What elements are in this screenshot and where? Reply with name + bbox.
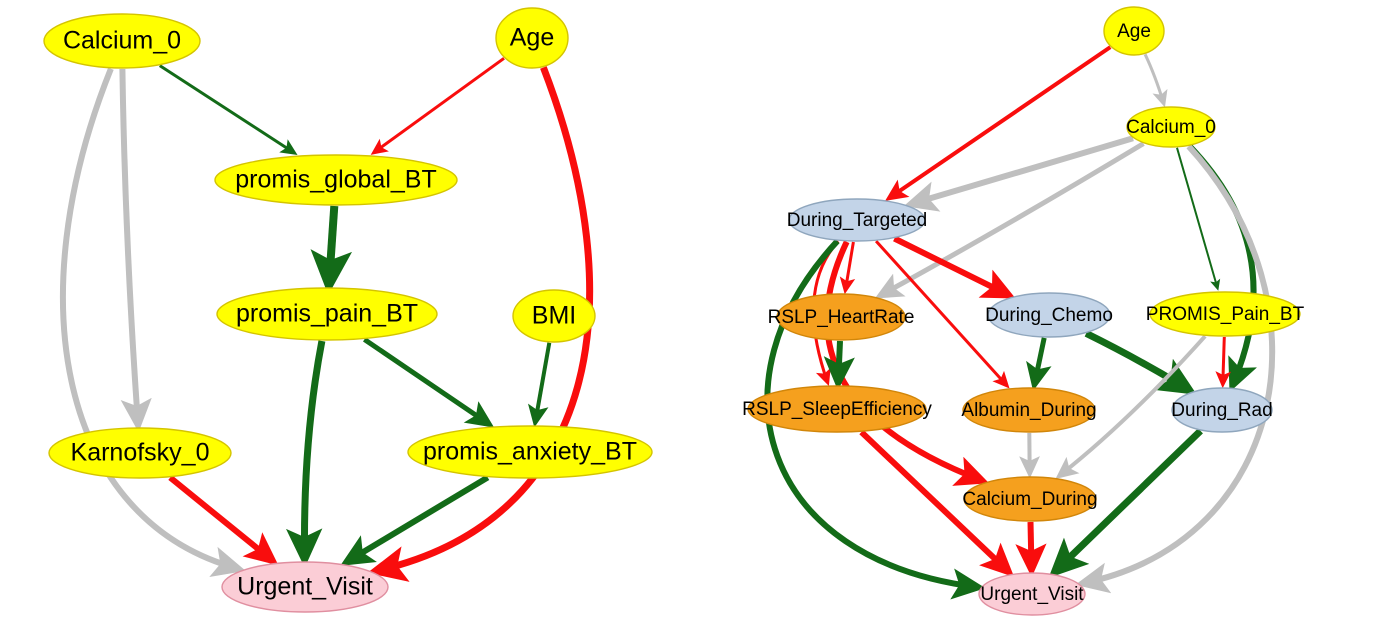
- node-urgent_visit[interactable]: Urgent_Visit: [222, 562, 388, 612]
- node-label: promis_pain_BT: [236, 300, 418, 328]
- edge-rslp_heartrate-to-rslp_sleepefficiency: [838, 341, 840, 382]
- node-label: promis_global_BT: [235, 166, 437, 194]
- node-age[interactable]: Age: [496, 8, 568, 68]
- edge-during_targeted-to-during_chemo: [894, 239, 1008, 295]
- node-promis_anxiety_bt[interactable]: promis_anxiety_BT: [408, 426, 652, 478]
- edge-during_chemo-to-during_rad: [1086, 333, 1188, 389]
- edge-age-to-promis_global_bt: [374, 58, 504, 152]
- node-label: Age: [510, 24, 554, 52]
- edge-calcium_0_r-to-during_rad: [1190, 146, 1254, 384]
- node-label: Calcium_During: [962, 489, 1097, 510]
- node-label: Urgent_Visit: [980, 584, 1084, 605]
- edge-promis_global_bt-to-promis_pain_bt: [329, 206, 334, 284]
- edge-bmi-to-promis_anxiety_bt: [535, 343, 549, 422]
- node-label: RSLP_SleepEfficiency: [742, 399, 932, 420]
- node-label: Urgent_Visit: [237, 573, 373, 601]
- node-layer-left: Calcium_0Agepromis_global_BTpromis_pain_…: [44, 8, 652, 612]
- node-promis_pain_bt[interactable]: promis_pain_BT: [217, 288, 437, 340]
- edge-calcium_0-to-urgent_visit: [63, 69, 238, 569]
- node-urgent_visit_r[interactable]: Urgent_Visit: [979, 573, 1085, 615]
- node-label: During_Chemo: [985, 305, 1113, 326]
- dag-svg: Calcium_0Agepromis_global_BTpromis_pain_…: [0, 0, 1388, 631]
- edge-promis_pain_bt-to-urgent_visit: [304, 341, 321, 558]
- node-label: Karnofsky_0: [71, 439, 210, 467]
- node-promis_pain_bt[interactable]: PROMIS_Pain_BT: [1146, 292, 1305, 336]
- node-label: Age: [1117, 21, 1151, 42]
- edge-promis_pain_bt-to-promis_anxiety_bt: [364, 339, 488, 423]
- node-age_r[interactable]: Age: [1104, 7, 1164, 55]
- node-albumin_during[interactable]: Albumin_During: [961, 388, 1096, 432]
- edge-promis_pain_bt-to-during_rad: [1223, 337, 1225, 384]
- node-label: Calcium_0: [1126, 117, 1216, 138]
- node-label: promis_anxiety_BT: [423, 438, 637, 466]
- node-bmi[interactable]: BMI: [513, 290, 595, 342]
- node-label: Calcium_0: [63, 27, 181, 55]
- edge-calcium_during-to-urgent_visit_r: [1031, 522, 1032, 569]
- node-label: During_Rad: [1171, 400, 1272, 421]
- node-during_chemo[interactable]: During_Chemo: [985, 293, 1113, 337]
- node-label: Albumin_During: [961, 400, 1096, 421]
- edge-during_chemo-to-albumin_during: [1035, 338, 1045, 384]
- node-rslp_heartrate[interactable]: RSLP_HeartRate: [768, 294, 915, 340]
- node-label: RSLP_HeartRate: [768, 307, 915, 328]
- node-calcium_during[interactable]: Calcium_During: [962, 477, 1097, 521]
- edge-promis_anxiety_bt-to-urgent_visit: [347, 477, 487, 561]
- edge-during_targeted-to-calcium_during: [827, 242, 981, 480]
- dag-figure-canvas: Calcium_0Agepromis_global_BTpromis_pain_…: [0, 0, 1388, 631]
- node-during_rad[interactable]: During_Rad: [1171, 388, 1272, 432]
- node-calcium_0_r[interactable]: Calcium_0: [1126, 107, 1216, 147]
- edge-age_r-to-calcium_0_r: [1145, 54, 1164, 103]
- node-karnofsky_0[interactable]: Karnofsky_0: [49, 428, 231, 478]
- node-during_targeted[interactable]: During_Targeted: [787, 199, 927, 241]
- node-promis_global_bt[interactable]: promis_global_BT: [215, 155, 457, 205]
- node-label: During_Targeted: [787, 210, 927, 231]
- node-calcium_0[interactable]: Calcium_0: [44, 14, 200, 68]
- node-label: BMI: [532, 302, 576, 330]
- edge-calcium_0-to-promis_global_bt: [160, 66, 294, 153]
- node-label: PROMIS_Pain_BT: [1146, 304, 1305, 325]
- edge-calcium_0-to-karnofsky_0: [122, 69, 138, 424]
